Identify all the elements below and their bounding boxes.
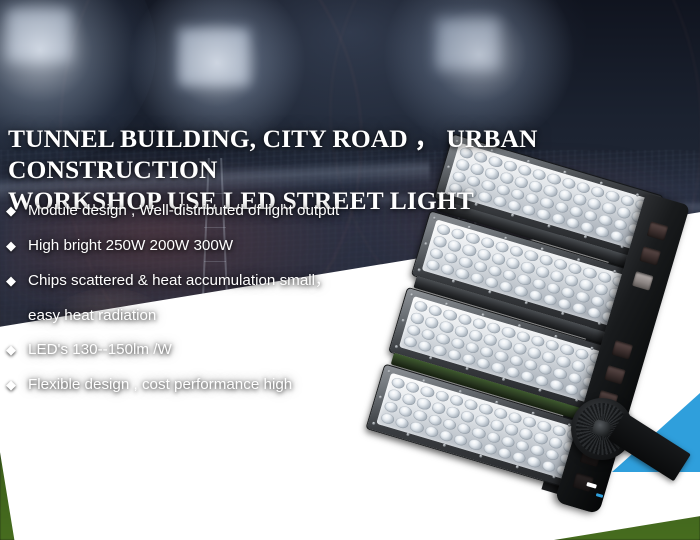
list-item: ◆ Chips scattered & heat accumulation sm… [6,266,406,301]
feature-list: ◆ Module design , Well-distributed of li… [6,196,406,405]
diamond-bullet-icon: ◆ [6,196,28,226]
list-item: ◆ LED's 130--150lm /W [6,335,406,370]
list-item: ◆ Module design , Well-distributed of li… [6,196,406,231]
list-item-continuation: easy heat radiation [6,301,406,335]
product-banner: TUNNEL BUILDING, CITY ROAD ， URBAN CONST… [0,0,700,540]
stadium-lamp-head [436,18,500,70]
feature-text: Flexible design , cost performance high [28,370,292,400]
diamond-bullet-icon: ◆ [6,266,28,296]
feature-text: LED's 130--150lm /W [28,335,172,365]
list-item: ◆ High bright 250W 200W 300W [6,231,406,266]
feature-text: High bright 250W 200W 300W [28,231,233,261]
diamond-bullet-icon: ◆ [6,335,28,365]
list-item: ◆ Flexible design , cost performance hig… [6,370,406,405]
stadium-lamp-head [6,8,72,62]
stadium-lamp-head [178,28,250,86]
diamond-bullet-icon: ◆ [6,370,28,400]
mounting-arm [608,412,691,481]
feature-text: easy heat radiation [28,301,156,331]
feature-text: Module design , Well-distributed of ligh… [28,196,339,226]
diamond-bullet-icon: ◆ [6,231,28,261]
feature-text: Chips scattered & heat accumulation smal… [28,266,330,296]
